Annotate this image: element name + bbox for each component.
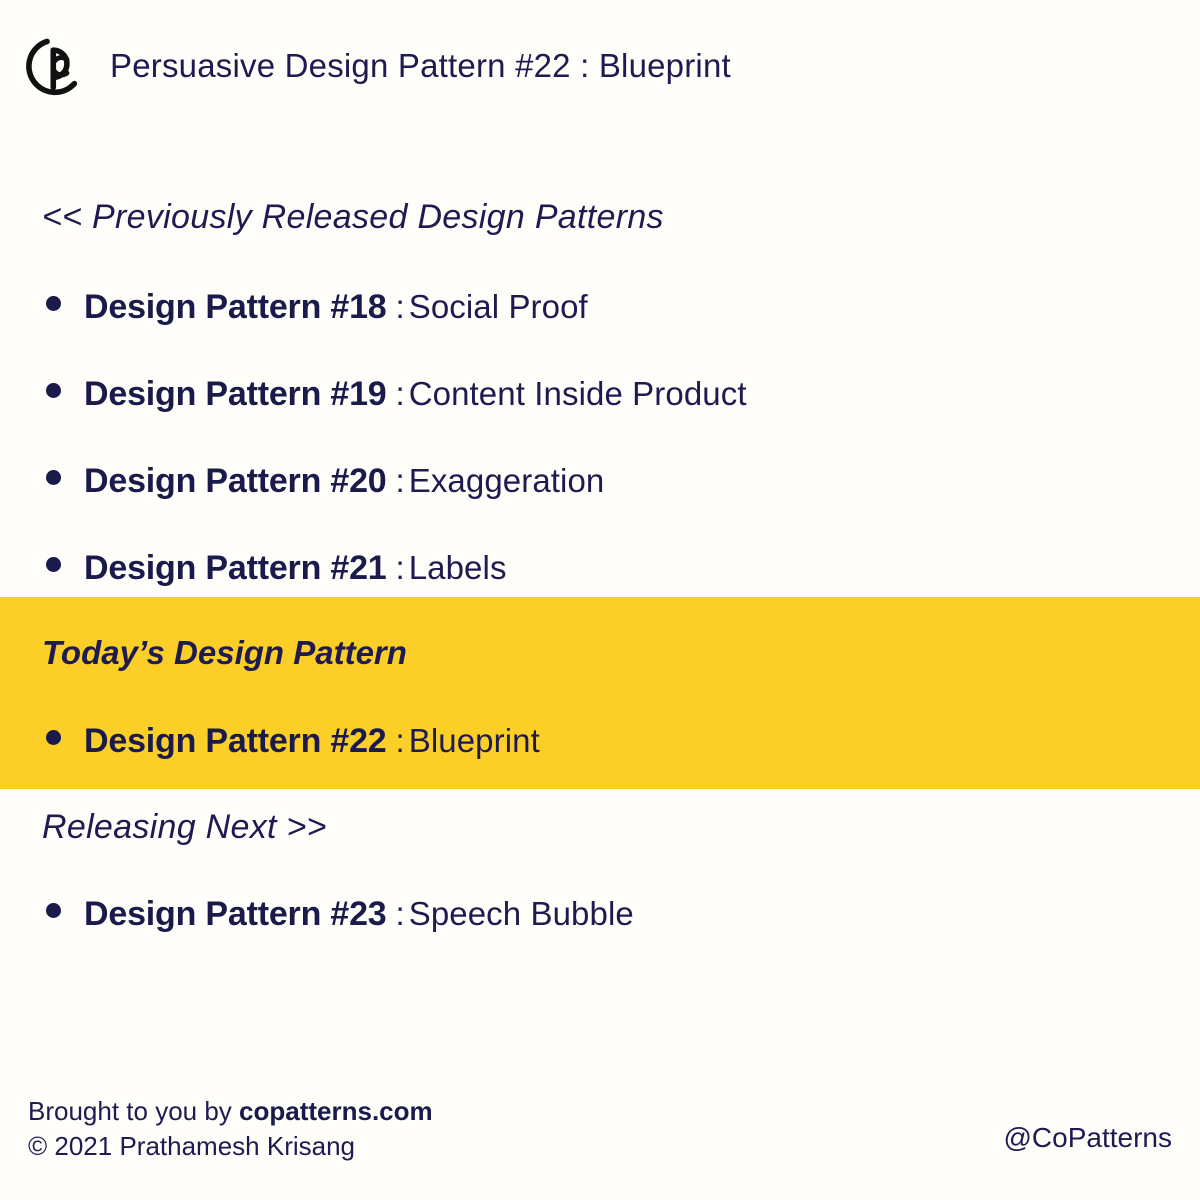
bullet-dot-icon [46, 903, 61, 918]
releasing-next-heading: Releasing Next >> [42, 810, 327, 844]
pattern-separator: : [387, 290, 409, 323]
footer-brought-line: Brought to you by copatterns.com [28, 1094, 433, 1129]
bullet-dot-icon [46, 557, 61, 572]
bullet-dot-icon [46, 383, 61, 398]
pattern-value: Blueprint [409, 724, 540, 757]
footer-site-link[interactable]: copatterns.com [239, 1096, 433, 1126]
pattern-value: Content Inside Product [409, 377, 747, 410]
pattern-value: Social Proof [409, 290, 588, 323]
page-title: Persuasive Design Pattern #22 : Blueprin… [110, 49, 731, 82]
list-item[interactable]: Design Pattern #19 : Content Inside Prod… [46, 377, 747, 411]
pattern-label: Design Pattern #18 [84, 290, 387, 324]
pattern-separator: : [387, 464, 409, 497]
list-item[interactable]: Design Pattern #18 : Social Proof [46, 290, 588, 324]
pattern-label: Design Pattern #19 [84, 377, 387, 411]
list-item[interactable]: Design Pattern #22 : Blueprint [46, 724, 540, 758]
pattern-value: Speech Bubble [409, 897, 634, 930]
pattern-label: Design Pattern #20 [84, 464, 387, 498]
bullet-dot-icon [46, 470, 61, 485]
bullet-dot-icon [46, 296, 61, 311]
page-header: Persuasive Design Pattern #22 : Blueprin… [26, 34, 731, 96]
previously-released-heading: << Previously Released Design Patterns [42, 200, 664, 234]
pattern-separator: : [387, 551, 409, 584]
footer-brought-prefix: Brought to you by [28, 1096, 239, 1126]
bullet-dot-icon [46, 730, 61, 745]
pattern-separator: : [387, 897, 409, 930]
list-item[interactable]: Design Pattern #21 : Labels [46, 551, 507, 585]
pattern-value: Exaggeration [409, 464, 605, 497]
list-item[interactable]: Design Pattern #20 : Exaggeration [46, 464, 604, 498]
pattern-label: Design Pattern #21 [84, 551, 387, 585]
footer-copyright: © 2021 Prathamesh Krisang [28, 1129, 433, 1164]
pattern-separator: : [387, 377, 409, 410]
pattern-value: Labels [409, 551, 507, 584]
list-item[interactable]: Design Pattern #23 : Speech Bubble [46, 897, 634, 931]
pattern-separator: : [387, 724, 409, 757]
pattern-label: Design Pattern #23 [84, 897, 387, 931]
footer-social-handle[interactable]: @CoPatterns [1004, 1122, 1173, 1154]
todays-pattern-heading: Today’s Design Pattern [42, 636, 407, 669]
todays-pattern-highlight-band [0, 597, 1200, 789]
pattern-label: Design Pattern #22 [84, 724, 387, 758]
copatterns-logo-icon [26, 34, 88, 96]
footer-credits: Brought to you by copatterns.com © 2021 … [28, 1094, 433, 1163]
